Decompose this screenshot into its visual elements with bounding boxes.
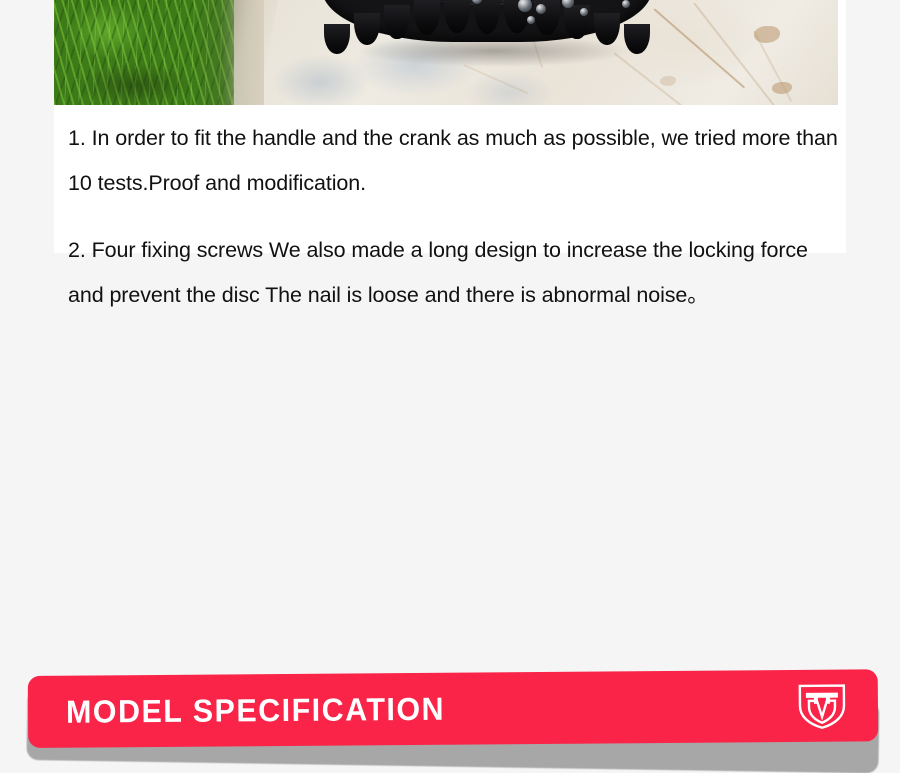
chainring-icon <box>322 0 652 54</box>
bottom-spacer <box>0 432 900 468</box>
shield-brand-logo-icon <box>796 682 848 730</box>
product-detail-page: 1. In order to fit the handle and the cr… <box>0 0 900 468</box>
feature-list: 1. In order to fit the handle and the cr… <box>68 116 846 318</box>
chainring-tooth <box>594 13 620 45</box>
chainring-tooth <box>624 24 650 54</box>
product-photo <box>54 0 838 105</box>
grass-shadow <box>60 54 210 105</box>
grass-rock-blend <box>194 0 264 105</box>
chainring-teeth <box>322 0 652 54</box>
banner-bar: MODEL SPECIFICATION <box>28 669 879 748</box>
water-droplet <box>580 8 588 16</box>
feature-paragraph-1: 1. In order to fit the handle and the cr… <box>68 116 846 206</box>
chainring-tooth <box>474 0 500 34</box>
product-photo-canvas <box>54 0 838 105</box>
water-droplet <box>622 0 630 8</box>
banner-title: MODEL SPECIFICATION <box>66 693 445 728</box>
chainring-tooth <box>354 13 380 45</box>
chainring-tooth <box>384 5 410 39</box>
banner-content: MODEL SPECIFICATION <box>28 669 879 748</box>
model-specification-banner: MODEL SPECIFICATION <box>0 332 900 442</box>
water-droplet <box>527 16 535 24</box>
chainring-tooth <box>444 0 470 33</box>
feature-paragraph-2: 2. Four fixing screws We also made a lon… <box>68 228 846 318</box>
water-droplet <box>536 4 546 14</box>
chainring-tooth <box>414 0 440 35</box>
chainring-tooth <box>324 24 350 54</box>
